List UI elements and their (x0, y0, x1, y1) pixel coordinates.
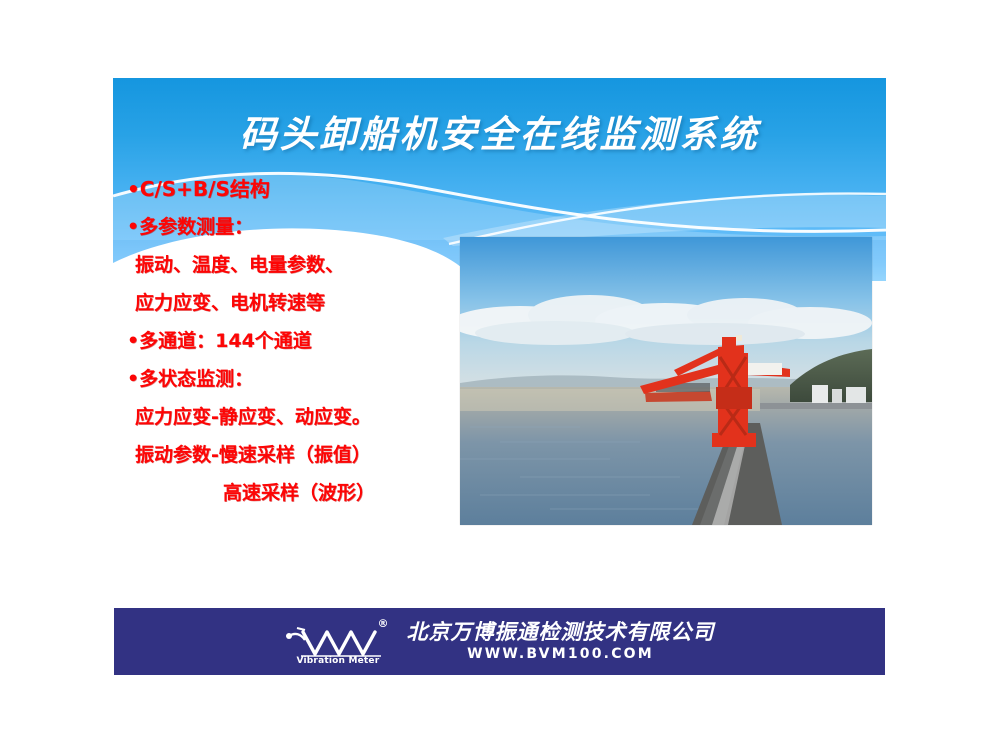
company-name-cn: 北京万博振通检测技术有限公司 (407, 622, 715, 643)
footer-content: ® Vibration Meter 北京万博振通检测技术有限公司 WWW.BVM… (114, 608, 885, 675)
photo-crane-sign (748, 363, 782, 375)
bullet-multi-state: •多状态监测： (127, 360, 477, 398)
company-website: WWW.BVM100.COM (467, 647, 654, 661)
photo-svg (460, 237, 872, 525)
logo-label: Vibration Meter (297, 656, 380, 666)
footer-bar: ® Vibration Meter 北京万博振通检测技术有限公司 WWW.BVM… (114, 608, 885, 675)
bullet-list: •C/S+B/S结构 •多参数测量： 振动、温度、电量参数、 应力应变、电机转速… (127, 170, 477, 512)
photo-right-pier (760, 403, 872, 409)
bullet-vib-slow: 振动参数-慢速采样（振值） (127, 436, 477, 474)
footer-company-block: 北京万博振通检测技术有限公司 WWW.BVM100.COM (407, 622, 715, 661)
bullet-multi-param: •多参数测量： (127, 208, 477, 246)
photo-sea-glare (460, 389, 760, 411)
bullet-strain-modes: 应力应变-静应变、动应变。 (127, 398, 477, 436)
bullet-param-list-2: 应力应变、电机转速等 (127, 284, 477, 322)
bullet-vib-fast: 高速采样（波形） (127, 474, 477, 512)
bullet-cs-bs: •C/S+B/S结构 (127, 170, 477, 208)
vibration-meter-logo: ® Vibration Meter (285, 618, 393, 666)
bullet-param-list-1: 振动、温度、电量参数、 (127, 246, 477, 284)
port-ship-unloader-photo (460, 237, 872, 525)
registered-mark-icon: ® (378, 618, 389, 629)
photo-crane-light (736, 335, 742, 341)
slide-title: 码头卸船机安全在线监测系统 (113, 104, 886, 158)
presentation-slide: 码头卸船机安全在线监测系统 •C/S+B/S结构 •多参数测量： 振动、温度、电… (113, 78, 886, 676)
bullet-multi-channel: •多通道：144个通道 (127, 322, 477, 360)
